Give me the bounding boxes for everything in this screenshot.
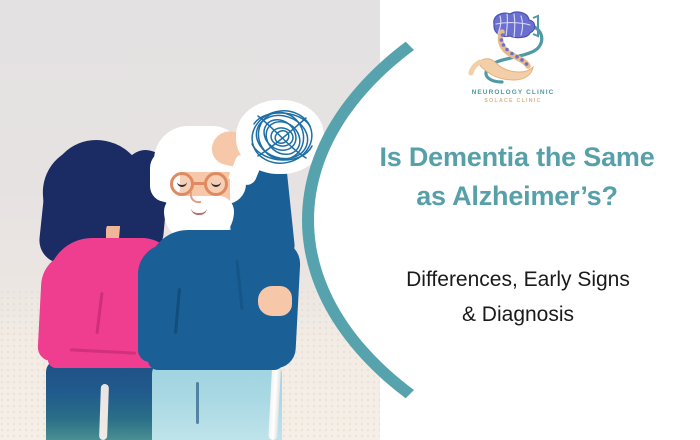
headline-line-2: as Alzheimer’s? (338, 177, 696, 216)
page-subtitle: Differences, Early Signs & Diagnosis (348, 262, 688, 332)
page-title: Is Dementia the Same as Alzheimer’s? (338, 138, 696, 216)
headline-line-1: Is Dementia the Same (338, 138, 696, 177)
logo-clinic-subtitle: SOLACE CLINIC (458, 98, 568, 104)
logo-clinic-name: NEUROLOGY CLINIC (458, 89, 568, 96)
subheading-line-2: & Diagnosis (348, 297, 688, 332)
man-shoulder-left (138, 244, 192, 362)
text-panel: NEUROLOGY CLINIC SOLACE CLINIC Is Dement… (330, 0, 700, 440)
confusion-scribble-icon (246, 104, 318, 170)
subheading-line-1: Differences, Early Signs (348, 262, 688, 297)
clinic-logo[interactable]: NEUROLOGY CLINIC SOLACE CLINIC (458, 10, 568, 110)
blog-banner: NEUROLOGY CLINIC SOLACE CLINIC Is Dement… (0, 0, 700, 440)
man-pants (152, 360, 282, 440)
brain-spine-hand-logo-icon (458, 10, 568, 88)
man-hand-on-cane (258, 286, 292, 316)
woman-shoulder (37, 251, 101, 364)
man-pants-seam (196, 382, 199, 424)
